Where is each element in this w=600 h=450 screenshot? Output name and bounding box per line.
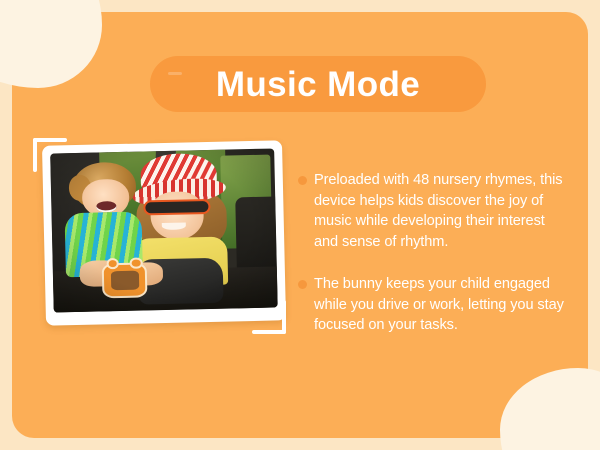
title-pill: Music Mode [150, 56, 486, 112]
bullet-dot-icon [298, 280, 307, 289]
feature-item-bunny-engagement: The bunny keeps your child engaged while… [298, 274, 570, 336]
page-title: Music Mode [216, 67, 420, 102]
feature-item-preloaded-rhymes: Preloaded with 48 nursery rhymes, this d… [298, 170, 570, 252]
feature-text: The bunny keeps your child engaged while… [314, 274, 570, 336]
feature-text: Preloaded with 48 nursery rhymes, this d… [314, 170, 570, 252]
bullet-dot-icon [298, 176, 307, 185]
product-lifestyle-photo [50, 148, 278, 312]
feature-list: Preloaded with 48 nursery rhymes, this d… [298, 170, 570, 336]
promo-slide: Music Mode [0, 0, 600, 450]
photo-card [42, 140, 286, 325]
photo-vignette [50, 148, 278, 312]
photo-card-wrapper [44, 143, 284, 323]
